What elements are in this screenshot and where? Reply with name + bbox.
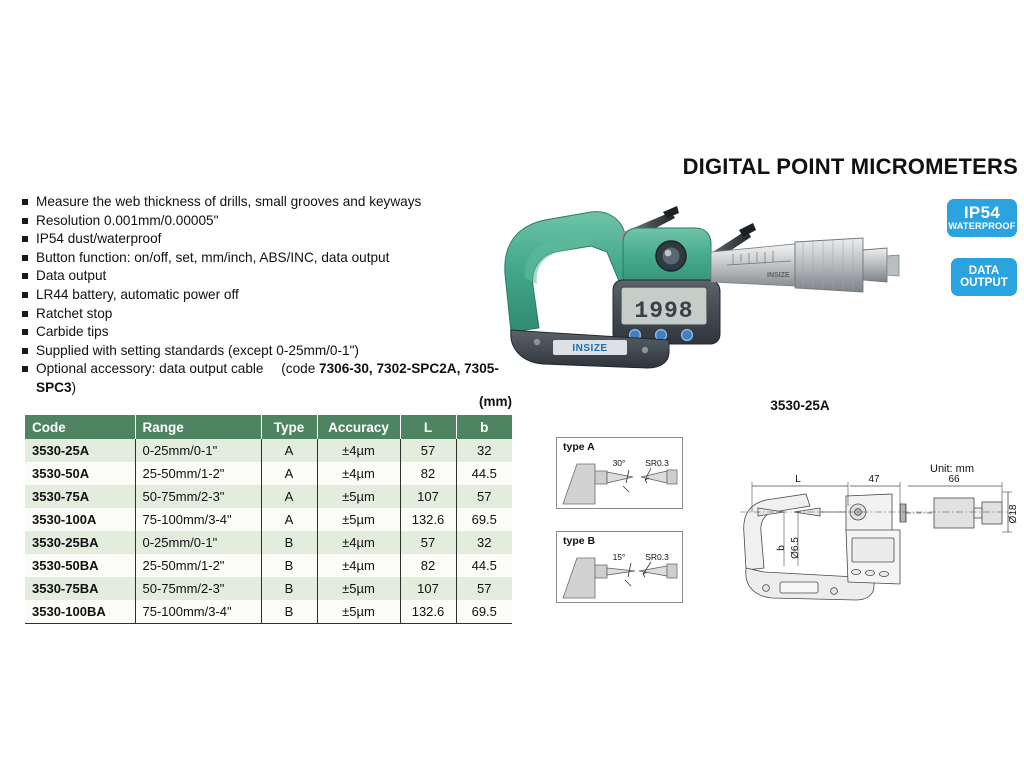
dim-label-b: b [776,545,787,551]
specification-table: Code Range Type Accuracy L b 3530-25A 0-… [25,415,512,624]
table-row: 3530-75BA 50-75mm/2-3" B ±5µm 107 57 [25,577,512,600]
square-bullet-icon [22,292,28,298]
cell-type: B [261,577,317,600]
type-b-radius-label: SR0.3 [645,552,669,562]
cell-l: 107 [400,485,456,508]
cell-accuracy: ±5µm [317,577,400,600]
cell-code: 3530-50BA [25,554,135,577]
cell-code: 3530-25A [25,439,135,462]
cell-l: 132.6 [400,508,456,531]
cell-code: 3530-100BA [25,600,135,624]
cell-l: 82 [400,462,456,485]
type-a-diagram: type A 30° SR0.3 [556,437,683,509]
table-row: 3530-100A 75-100mm/3-4" A ±5µm 132.6 69.… [25,508,512,531]
sleeve-brand-label: INSIZE [767,272,790,279]
list-item: Data output [22,267,522,286]
square-bullet-icon [22,273,28,279]
cell-accuracy: ±4µm [317,554,400,577]
feature-text: IP54 dust/waterproof [36,230,522,249]
column-header-type: Type [261,415,317,439]
feature-text: Data output [36,267,522,286]
cell-b: 69.5 [456,508,512,531]
cell-l: 107 [400,577,456,600]
column-header-code: Code [25,415,135,439]
cell-b: 44.5 [456,462,512,485]
display-outline [852,538,894,562]
cell-accuracy: ±5µm [317,508,400,531]
cell-range: 75-100mm/3-4" [135,508,261,531]
list-item: Resolution 0.001mm/0.00005" [22,212,522,231]
square-bullet-icon [22,199,28,205]
table-header-row: Code Range Type Accuracy L b [25,415,512,439]
cell-code: 3530-75A [25,485,135,508]
cell-l: 57 [400,439,456,462]
accessory-prefix: (code [281,361,319,376]
dim-label-66: 66 [948,474,960,485]
accessory-suffix: ) [72,380,77,395]
list-item: Supplied with setting standards (except … [22,342,522,361]
list-item: Carbide tips [22,323,522,342]
type-a-radius-label: SR0.3 [645,458,669,468]
table-row: 3530-100BA 75-100mm/3-4" B ±5µm 132.6 69… [25,600,512,624]
dimension-drawing: L 47 66 b Ø6.5 Ø18 [740,462,1024,614]
table-row: 3530-50A 25-50mm/1-2" A ±4µm 82 44.5 [25,462,512,485]
column-header-b: b [456,415,512,439]
ratchet-stop [863,248,887,282]
dim-label-L: L [795,474,801,485]
page-title: DIGITAL POINT MICROMETERS [560,154,1018,180]
dim-label-47: 47 [868,474,880,485]
cell-type: A [261,439,317,462]
cell-b: 57 [456,577,512,600]
spindle-point [641,471,667,483]
cell-range: 50-75mm/2-3" [135,485,261,508]
cell-b: 32 [456,439,512,462]
feature-text: LR44 battery, automatic power off [36,286,522,305]
square-bullet-icon [22,366,28,372]
cell-accuracy: ±4µm [317,531,400,554]
square-bullet-icon [22,255,28,261]
cell-code: 3530-100A [25,508,135,531]
cell-b: 57 [456,485,512,508]
badge-data-output-line2: OUTPUT [960,277,1008,289]
cell-type: A [261,462,317,485]
product-photo: 1998 INSIZE INSIZE [495,182,915,382]
cell-code: 3530-75BA [25,577,135,600]
cell-accuracy: ±5µm [317,600,400,624]
badge-ip54-caption: WATERPROOF [948,222,1015,232]
column-header-range: Range [135,415,261,439]
cell-type: A [261,508,317,531]
anvil-block [563,558,595,598]
type-b-angle-label: 15° [613,552,626,562]
column-header-l: L [400,415,456,439]
table-row: 3530-75A 50-75mm/2-3" A ±5µm 107 57 [25,485,512,508]
feature-text: Button function: on/off, set, mm/inch, A… [36,249,522,268]
cell-range: 0-25mm/0-1" [135,531,261,554]
table-row: 3530-50BA 25-50mm/1-2" B ±4µm 82 44.5 [25,554,512,577]
cell-code: 3530-25BA [25,531,135,554]
feature-text: Measure the web thickness of drills, sma… [36,193,522,212]
brand-label: INSIZE [572,343,607,354]
badge-ip54-rating: IP54 [964,204,1000,222]
anvil-point [607,568,635,575]
ratchet-outline [982,502,1002,524]
feature-text: Carbide tips [36,323,522,342]
cell-range: 0-25mm/0-1" [135,439,261,462]
table-unit-note: (mm) [352,394,512,409]
type-b-diagram: type B 15° SR0.3 [556,531,683,603]
square-bullet-icon [22,236,28,242]
cell-range: 75-100mm/3-4" [135,600,261,624]
cell-range: 25-50mm/1-2" [135,462,261,485]
mm-inch-button[interactable] [682,330,693,341]
cell-b: 69.5 [456,600,512,624]
table-row: 3530-25A 0-25mm/0-1" A ±4µm 57 32 [25,439,512,462]
list-item: Ratchet stop [22,305,522,324]
cell-b: 32 [456,531,512,554]
list-item: IP54 dust/waterproof [22,230,522,249]
anvil-block [563,464,595,504]
cell-range: 25-50mm/1-2" [135,554,261,577]
product-model-label: 3530-25A [690,398,910,413]
cell-accuracy: ±5µm [317,485,400,508]
cell-code: 3530-50A [25,462,135,485]
type-a-angle-label: 30° [613,458,626,468]
lcd-reading: 1998 [634,298,693,324]
cell-range: 50-75mm/2-3" [135,577,261,600]
badge-data-output: DATA OUTPUT [951,258,1017,296]
cell-type: B [261,531,317,554]
cell-l: 132.6 [400,600,456,624]
badge-ip54: IP54 WATERPROOF [947,199,1017,237]
feature-text: Ratchet stop [36,305,522,324]
column-header-accuracy: Accuracy [317,415,400,439]
cell-type: B [261,600,317,624]
list-item: Button function: on/off, set, mm/inch, A… [22,249,522,268]
feature-text: Resolution 0.001mm/0.00005" [36,212,522,231]
feature-text: Supplied with setting standards (except … [36,342,522,361]
feature-list: Measure the web thickness of drills, sma… [22,193,522,398]
square-bullet-icon [22,348,28,354]
list-item: Optional accessory: data output cable (c… [22,360,522,397]
cell-accuracy: ±4µm [317,439,400,462]
anvil-point [607,472,633,483]
cell-type: A [261,485,317,508]
cell-l: 57 [400,531,456,554]
thimble-outline [934,498,974,528]
cell-l: 82 [400,554,456,577]
cell-accuracy: ±4µm [317,462,400,485]
list-item: Measure the web thickness of drills, sma… [22,193,522,212]
list-item: LR44 battery, automatic power off [22,286,522,305]
dim-label-bore: Ø6.5 [790,537,801,559]
cell-type: B [261,554,317,577]
catalog-page: DIGITAL POINT MICROMETERS Measure the we… [0,0,1024,768]
table-row: 3530-25BA 0-25mm/0-1" B ±4µm 57 32 [25,531,512,554]
cell-b: 44.5 [456,554,512,577]
square-bullet-icon [22,218,28,224]
feature-text: Optional accessory: data output cable [36,361,263,376]
dim-label-thimble: Ø18 [1008,504,1019,523]
square-bullet-icon [22,311,28,317]
square-bullet-icon [22,329,28,335]
